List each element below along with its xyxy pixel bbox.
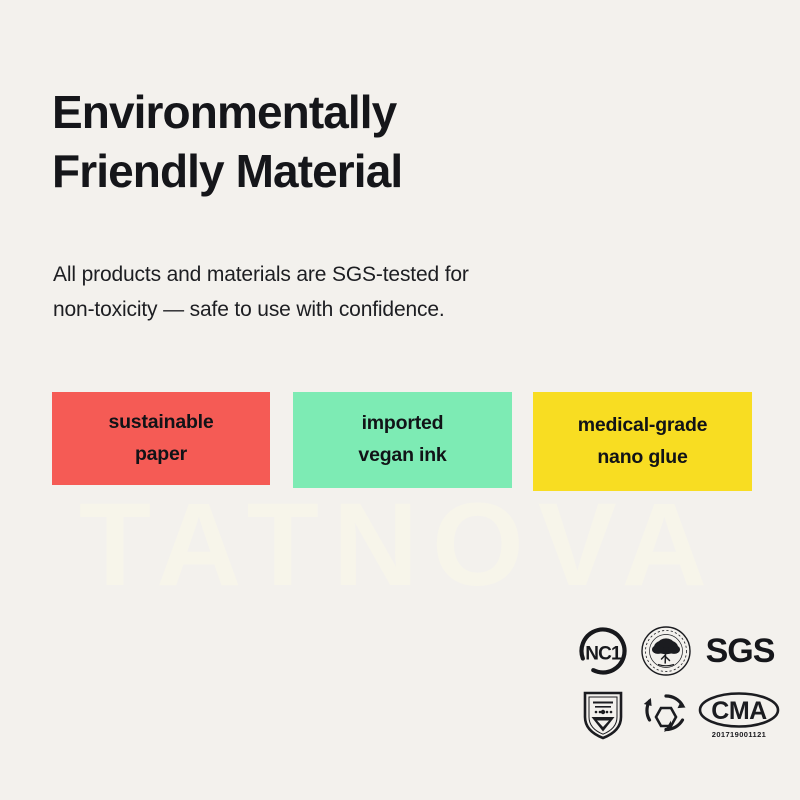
page-title-line-2: Friendly Material	[52, 142, 692, 201]
brand-watermark: TATNOVA	[0, 486, 800, 604]
cma-certification-icon: CMA 201719001121	[698, 687, 780, 743]
page-title: Environmentally Friendly Material	[52, 83, 692, 201]
page-subtitle-line-2: non-toxicity — safe to use with confiden…	[53, 292, 653, 327]
material-chip-label-line-1: sustainable	[108, 407, 213, 439]
certification-badge-row-bottom: CMA 201719001121	[574, 686, 780, 744]
poster-page: TATNOVA Environmentally Friendly Materia…	[0, 0, 800, 800]
shield-quality-icon	[574, 687, 632, 743]
material-chip-label-line-2: nano glue	[597, 442, 687, 474]
material-chip-nano-glue: medical-grade nano glue	[533, 392, 752, 491]
svg-text:NC1: NC1	[585, 644, 622, 665]
material-chip-group: sustainable paper imported vegan ink med…	[52, 392, 752, 502]
certification-badge-group: NC1	[574, 622, 780, 746]
page-subtitle: All products and materials are SGS-teste…	[53, 257, 653, 328]
material-chip-label-line-1: medical-grade	[578, 410, 708, 442]
material-chip-vegan-ink: imported vegan ink	[293, 392, 512, 488]
sgs-certification-icon: SGS	[700, 627, 780, 675]
recycling-symbol-icon	[636, 687, 696, 743]
sgs-label: SGS	[706, 634, 775, 668]
page-subtitle-line-1: All products and materials are SGS-teste…	[53, 257, 653, 292]
material-chip-label-line-1: imported	[362, 408, 444, 440]
material-chip-sustainable-paper: sustainable paper	[52, 392, 270, 485]
forest-tree-seal-icon	[636, 623, 696, 679]
page-title-line-1: Environmentally	[52, 83, 692, 142]
cma-certificate-number: 201719001121	[712, 731, 766, 739]
material-chip-label-line-2: paper	[135, 439, 187, 471]
nc1-certification-icon: NC1	[574, 625, 632, 677]
material-chip-label-line-2: vegan ink	[358, 440, 446, 472]
svg-text:CMA: CMA	[711, 697, 767, 725]
certification-badge-row-top: NC1	[574, 622, 780, 680]
